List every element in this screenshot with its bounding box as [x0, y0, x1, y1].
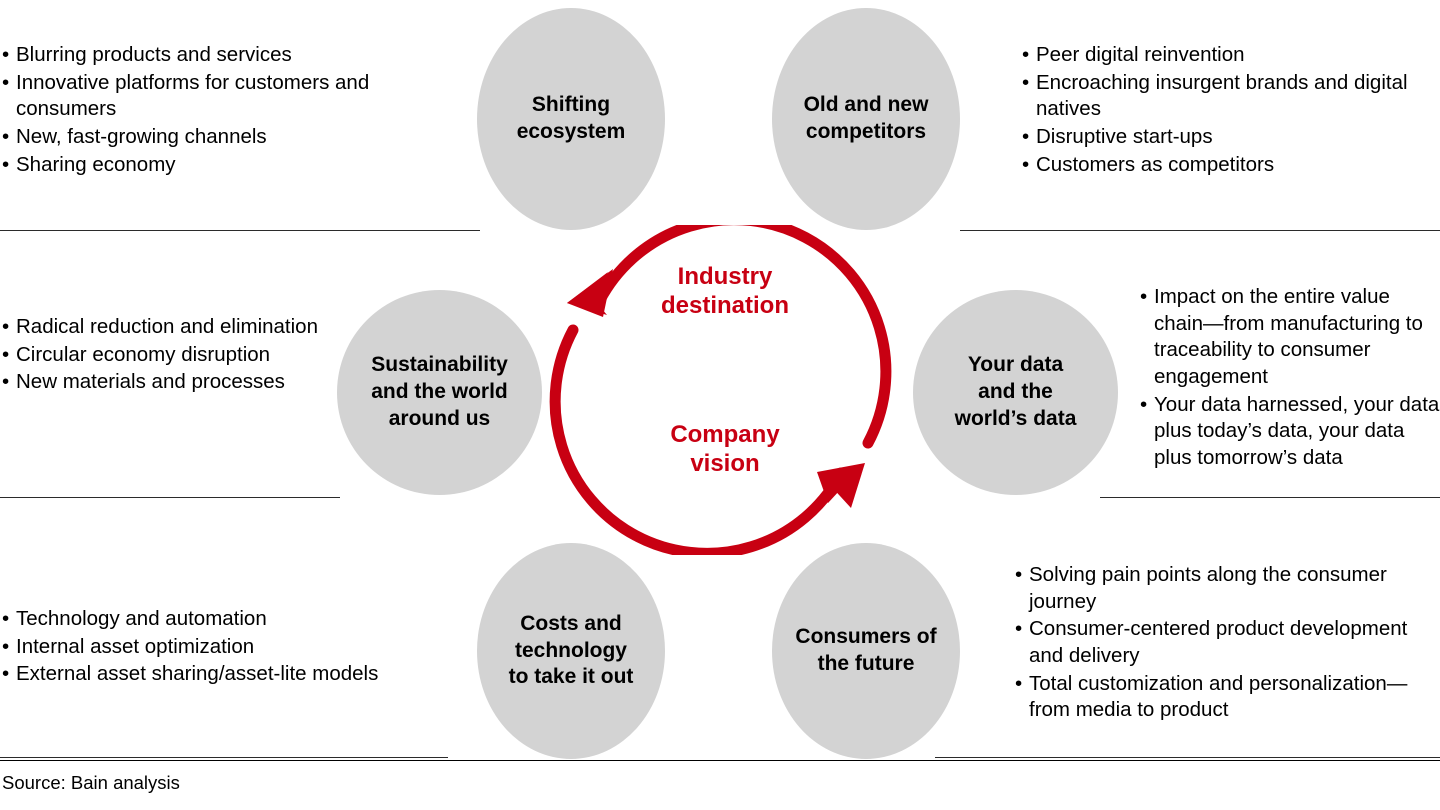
bullets-costs-and-technology-to-take-it-out: Technology and automation Internal asset…	[2, 606, 442, 689]
bullet-item: Your data harnessed, your data plus toda…	[1140, 392, 1440, 472]
node-circle-sustainability-and-the-world-around-us[interactable]: Sustainability and the world around us	[337, 290, 542, 495]
bullet-item: Technology and automation	[2, 606, 442, 633]
node-circle-your-data-and-the-worlds-data[interactable]: Your data and the world’s data	[913, 290, 1118, 495]
diagram-canvas: Shifting ecosystem Old and new competito…	[0, 0, 1440, 810]
node-label: Your data and the world’s data	[945, 352, 1087, 433]
divider-middle-left	[0, 497, 340, 498]
divider-middle-right	[1100, 497, 1440, 498]
node-label: Costs and technology to take it out	[499, 611, 644, 692]
node-circle-shifting-ecosystem[interactable]: Shifting ecosystem	[477, 8, 665, 230]
bullet-item: Impact on the entire value chain—from ma…	[1140, 284, 1440, 391]
bullet-item: Peer digital reinvention	[1022, 42, 1440, 69]
divider-top-left	[0, 230, 480, 231]
node-circle-costs-and-technology-to-take-it-out[interactable]: Costs and technology to take it out	[477, 543, 665, 759]
bullet-item: Total customization and personalization—…	[1015, 671, 1440, 724]
center-label-company-vision: Company vision	[610, 420, 840, 479]
bullet-item: Innovative platforms for customers and c…	[2, 70, 422, 123]
bullet-item: Customers as competitors	[1022, 152, 1440, 179]
bullet-item: Blurring products and services	[2, 42, 422, 69]
bullet-item: Solving pain points along the consumer j…	[1015, 562, 1440, 615]
node-label: Sustainability and the world around us	[361, 352, 518, 433]
bullets-your-data-and-the-worlds-data: Impact on the entire value chain—from ma…	[1140, 284, 1440, 472]
node-circle-consumers-of-the-future[interactable]: Consumers of the future	[772, 543, 960, 759]
node-circle-old-and-new-competitors[interactable]: Old and new competitors	[772, 8, 960, 230]
bullet-item: Internal asset optimization	[2, 634, 442, 661]
bullet-item: Disruptive start-ups	[1022, 124, 1440, 151]
divider-bottom-right	[935, 757, 1440, 758]
bullets-sustainability-and-the-world-around-us: Radical reduction and elimination Circul…	[2, 314, 332, 397]
source-note: Source: Bain analysis	[2, 772, 180, 794]
divider-top-right	[960, 230, 1440, 231]
bullet-item: New materials and processes	[2, 369, 332, 396]
divider-source	[0, 760, 1440, 761]
bullet-item: New, fast-growing channels	[2, 124, 422, 151]
bullets-consumers-of-the-future: Solving pain points along the consumer j…	[1015, 562, 1440, 725]
node-label: Consumers of the future	[785, 624, 946, 678]
bullet-item: Circular economy disruption	[2, 342, 332, 369]
bullet-item: Sharing economy	[2, 152, 422, 179]
bullet-item: Radical reduction and elimination	[2, 314, 332, 341]
bullet-item: External asset sharing/asset-lite models	[2, 661, 442, 688]
node-label: Old and new competitors	[794, 92, 939, 146]
bullets-old-and-new-competitors: Peer digital reinvention Encroaching ins…	[1022, 42, 1440, 179]
arrow-counterclockwise-icon	[567, 225, 886, 443]
divider-bottom-left	[0, 757, 448, 758]
bullet-item: Encroaching insurgent brands and digital…	[1022, 70, 1440, 123]
node-label: Shifting ecosystem	[507, 92, 636, 146]
center-label-industry-destination: Industry destination	[600, 262, 850, 321]
bullets-shifting-ecosystem: Blurring products and services Innovativ…	[2, 42, 422, 179]
bullet-item: Consumer-centered product development an…	[1015, 616, 1440, 669]
